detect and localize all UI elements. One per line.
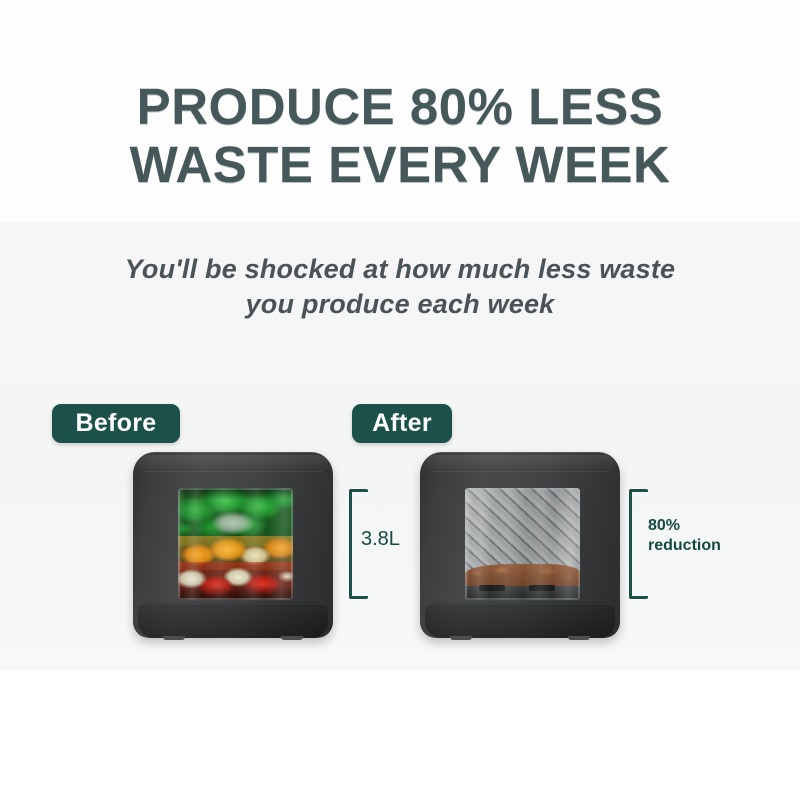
- device-foot-right: [281, 636, 303, 640]
- device-base: [425, 602, 615, 638]
- before-measurement-label: 3.8L: [361, 527, 400, 551]
- before-badge: Before: [52, 404, 180, 443]
- after-reduction-caption: reduction: [648, 536, 721, 556]
- after-viewing-window: [465, 488, 580, 600]
- device-lid: [424, 455, 616, 471]
- scraps-top-shadow: [178, 488, 293, 500]
- scraps-bottom-shadow: [178, 584, 293, 600]
- headline-line-2: WASTE EVERY WEEK: [0, 136, 800, 194]
- food-scraps-fill: [178, 488, 293, 600]
- bottom-background-band: [0, 670, 800, 800]
- device-base-seam: [428, 603, 612, 604]
- compost-fill: [465, 564, 580, 586]
- after-badge: After: [352, 404, 452, 443]
- headline-line-1: PRODUCE 80% LESS: [137, 78, 664, 135]
- bin-notch-right: [529, 585, 555, 591]
- before-badge-label: Before: [76, 409, 157, 438]
- after-reduction-value: 80%: [648, 517, 680, 534]
- device-foot-right: [568, 636, 590, 640]
- device-lid-seam: [143, 471, 323, 472]
- device-foot-left: [450, 636, 472, 640]
- subheadline-line-2: you produce each week: [60, 287, 740, 322]
- device-base-seam: [141, 603, 325, 604]
- after-composter-device: [420, 452, 620, 646]
- device-base: [138, 602, 328, 638]
- before-viewing-window: [178, 488, 293, 600]
- before-composter-device: [133, 452, 333, 646]
- after-badge-label: After: [372, 409, 432, 438]
- device-lid: [137, 455, 329, 471]
- bin-notch-left: [479, 585, 505, 591]
- scraps-pale-layer: [210, 510, 256, 536]
- before-volume-value: 3.8L: [361, 528, 400, 550]
- headline: PRODUCE 80% LESS WASTE EVERY WEEK: [0, 78, 800, 194]
- after-measurement-bracket: [629, 489, 648, 599]
- device-foot-left: [163, 636, 185, 640]
- after-measurement-label: 80% reduction: [648, 516, 721, 556]
- subheadline: You'll be shocked at how much less waste…: [60, 252, 740, 322]
- subheadline-line-1: You'll be shocked at how much less waste: [125, 254, 676, 284]
- promo-graphic: PRODUCE 80% LESS WASTE EVERY WEEK You'll…: [0, 0, 800, 800]
- device-lid-seam: [430, 471, 610, 472]
